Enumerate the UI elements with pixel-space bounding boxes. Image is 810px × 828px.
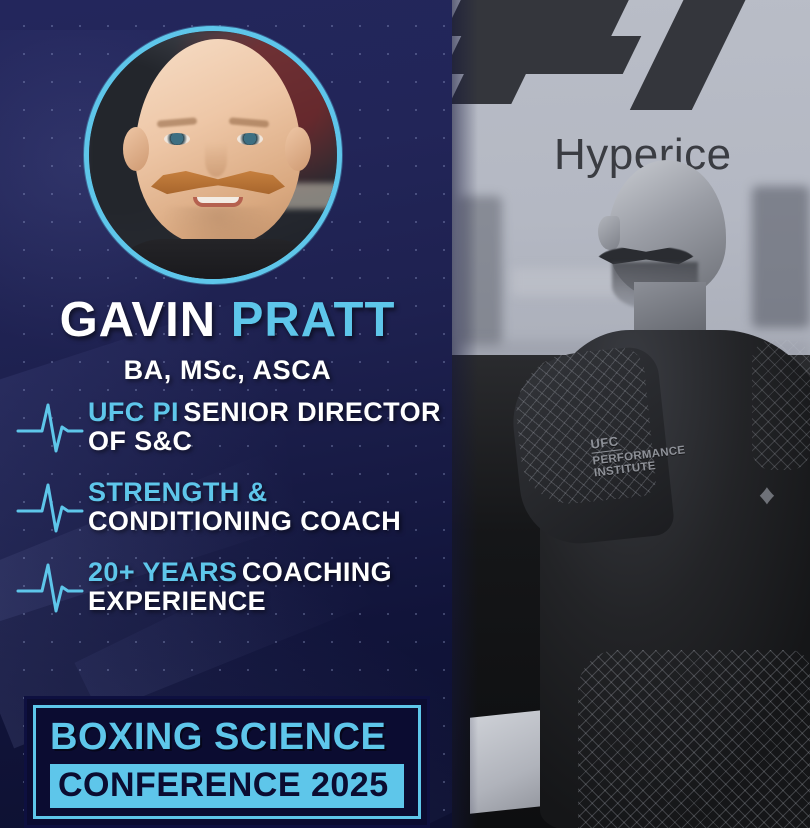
list-item: STRENGTH & CONDITIONING COACH: [16, 476, 456, 538]
list-item-text: UFC PI SENIOR DIRECTOR OF S&C: [88, 398, 456, 456]
speaker-name: GAVIN PRATT: [0, 296, 455, 345]
list-item-line: SENIOR DIRECTOR: [183, 397, 441, 427]
event-edition: CONFERENCE 2025: [50, 764, 404, 808]
shirt-ufc-line: UFC: [590, 434, 622, 454]
portrait-nose: [205, 143, 227, 177]
portrait-shirt: [103, 239, 333, 284]
pulse-icon: [16, 477, 84, 537]
list-item-line: OF S&C: [88, 426, 192, 456]
speaker-promo-poster: Hyperice UFC PERFORMANCE INSTITUTE ♦: [0, 0, 810, 828]
event-badge: BOXING SCIENCE CONFERENCE 2025: [24, 696, 430, 828]
speaker-photo-panel: Hyperice UFC PERFORMANCE INSTITUTE ♦: [452, 0, 810, 828]
portrait-eye-left: [164, 133, 190, 145]
portrait-eye-right: [237, 133, 263, 145]
shirt-knit-pattern: [511, 346, 658, 509]
event-badge-inner: BOXING SCIENCE CONFERENCE 2025: [33, 705, 421, 819]
credentials-list: UFC PI SENIOR DIRECTOR OF S&C STRENGTH &…: [16, 396, 456, 636]
portrait-ear-right: [285, 127, 311, 171]
list-item: UFC PI SENIOR DIRECTOR OF S&C: [16, 396, 456, 458]
speaker-last-name: PRATT: [231, 293, 396, 347]
pulse-icon: [16, 397, 84, 457]
speaker-first-name: GAVIN: [60, 293, 217, 347]
list-item-highlight: STRENGTH &: [88, 477, 268, 507]
venum-logo-icon: ♦: [747, 480, 786, 510]
list-item: 20+ YEARS COACHING EXPERIENCE: [16, 556, 456, 618]
shirt-knit-pattern: [752, 340, 810, 470]
portrait-ear-left: [123, 127, 149, 171]
figure-ear: [598, 216, 620, 250]
list-item-text: STRENGTH & CONDITIONING COACH: [88, 478, 456, 536]
speaker-credentials: BA, MSc, ASCA: [0, 355, 455, 386]
speaker-portrait-avatar: [84, 26, 342, 284]
list-item-text: 20+ YEARS COACHING EXPERIENCE: [88, 558, 456, 616]
portrait-teeth: [197, 197, 239, 203]
list-item-highlight: 20+ YEARS: [88, 557, 237, 587]
pulse-icon: [16, 557, 84, 617]
list-item-highlight: UFC PI: [88, 397, 179, 427]
list-item-line: CONDITIONING COACH: [88, 506, 401, 536]
shirt-knit-pattern: [578, 650, 810, 828]
event-name: BOXING SCIENCE: [50, 718, 404, 756]
speaker-figure: UFC PERFORMANCE INSTITUTE ♦: [452, 0, 810, 828]
